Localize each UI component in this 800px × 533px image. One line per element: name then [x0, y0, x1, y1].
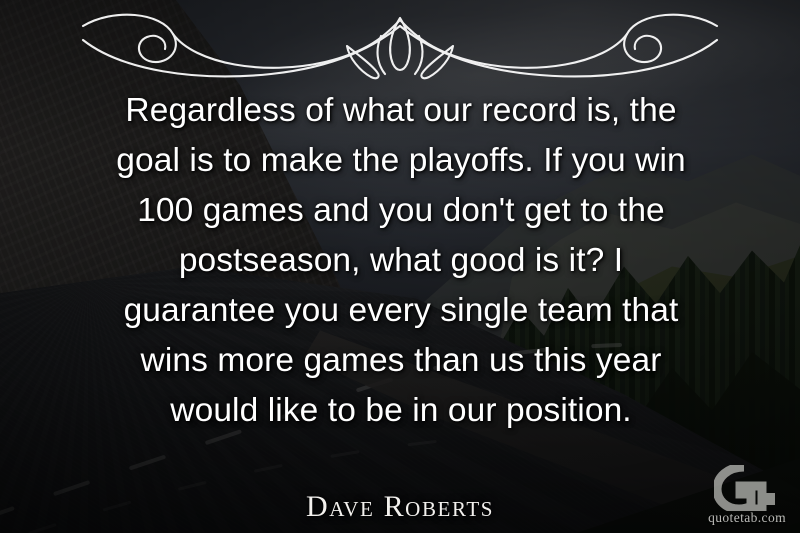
quote-line: would like to be in our position. [60, 386, 742, 436]
quote-card: Regardless of what our record is, the go… [0, 0, 800, 533]
quote-line: Regardless of what our record is, the [60, 86, 742, 136]
card-content: Regardless of what our record is, the go… [0, 0, 800, 533]
quote-line: goal is to make the playoffs. If you win [60, 136, 742, 186]
quote-text: Regardless of what our record is, the go… [60, 86, 742, 436]
flourish-ornament-icon [75, 6, 725, 84]
watermark: quotetab.com [694, 465, 790, 527]
quote-line: wins more games than us this year [60, 336, 742, 386]
quote-line: postseason, what good is it? I [60, 236, 742, 286]
quote-author: Dave Roberts [0, 491, 800, 523]
quotetab-logo-icon [714, 465, 776, 511]
quote-line: 100 games and you don't get to the [60, 186, 742, 236]
quote-line: guarantee you every single team that [60, 286, 742, 336]
watermark-site-label: quotetab.com [708, 510, 786, 526]
